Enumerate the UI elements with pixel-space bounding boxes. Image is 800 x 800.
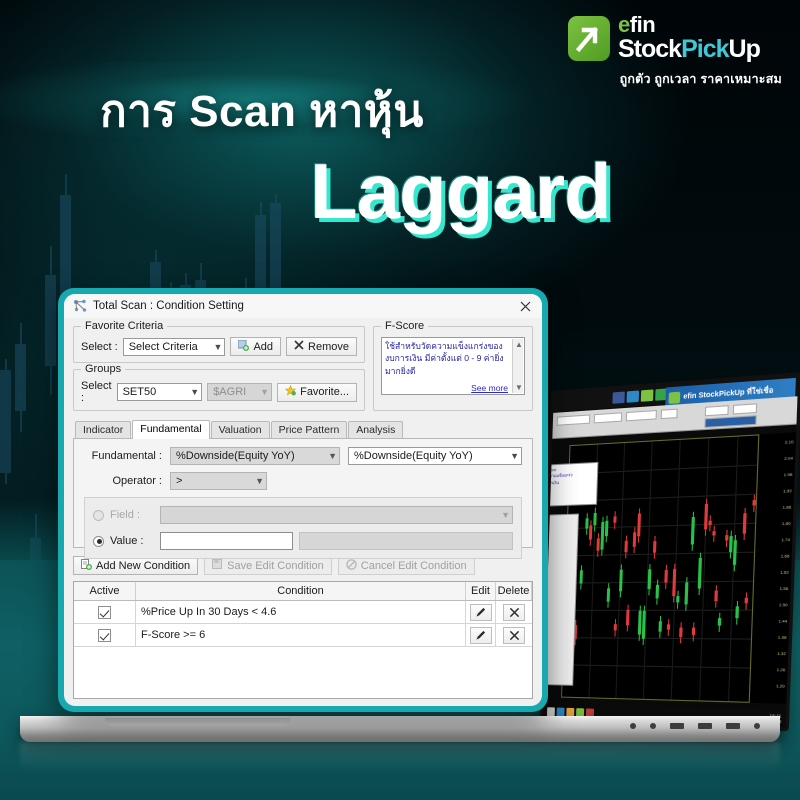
poster-stage: การ Scan หาหุ้น Laggard efin StockPickUp… xyxy=(0,0,800,800)
favorite-button[interactable]: Favorite... xyxy=(277,383,357,402)
logo-pick: Pick xyxy=(681,35,728,63)
laptop-reflection xyxy=(20,742,780,772)
fundamental-select-1[interactable]: %Downside(Equity YoY) ▼ xyxy=(170,447,340,465)
chevron-down-icon: ▼ xyxy=(506,451,519,461)
field-radio[interactable] xyxy=(93,510,104,521)
active-checkbox[interactable] xyxy=(98,629,111,642)
condition-setting-dialog-frame: Total Scan : Condition Setting Favorite … xyxy=(58,288,548,712)
pencil-icon[interactable] xyxy=(470,604,492,621)
fscore-description-area[interactable]: ใช้สำหรับวัดความแข็งแกร่งของงบการเงิน มี… xyxy=(381,337,525,395)
cancel-circle-icon xyxy=(346,559,357,573)
column-header-edit[interactable]: Edit xyxy=(466,582,496,600)
column-header-condition[interactable]: Condition xyxy=(136,582,466,600)
active-checkbox[interactable] xyxy=(98,606,111,619)
operator-select[interactable]: > ▼ xyxy=(170,472,267,490)
condition-setting-dialog: Total Scan : Condition Setting Favorite … xyxy=(64,294,542,706)
groups-select[interactable]: SET50 ▼ xyxy=(117,383,203,401)
groups-legend: Groups xyxy=(81,363,125,375)
fscore-description: ใช้สำหรับวัดความแข็งแกร่งของงบการเงิน มี… xyxy=(385,340,510,377)
criteria-tabs: IndicatorFundamentalValuationPrice Patte… xyxy=(73,420,533,439)
laptop-notch xyxy=(105,718,290,726)
tab-valuation[interactable]: Valuation xyxy=(211,421,270,439)
field-value-subpanel: Field : ▼ Value : xyxy=(84,497,522,559)
efin-logo: efin StockPickUp ถูกตัว ถูกเวลา ราคาเหมา… xyxy=(568,14,782,84)
groups-select-label: Select : xyxy=(81,380,112,404)
chevron-down-icon: ▼ xyxy=(251,476,264,486)
chevron-down-icon: ▼ xyxy=(186,387,199,397)
star-icon xyxy=(285,385,296,399)
fundamental-value-1: %Downside(Equity YoY) xyxy=(176,450,295,462)
sector-value: $AGRI xyxy=(213,386,246,398)
remove-criteria-button[interactable]: Remove xyxy=(286,337,357,356)
groups-group: Groups Select : SET50 ▼ $AGRI ▼ xyxy=(73,369,365,411)
save-edit-condition-label: Save Edit Condition xyxy=(227,560,324,572)
poster-main-title: Laggard xyxy=(310,152,611,230)
favorite-select-label: Select : xyxy=(81,341,118,353)
tab-fundamental[interactable]: Fundamental xyxy=(132,420,209,439)
fscore-group: F-Score ใช้สำหรับวัดความแข็งแกร่งของงบกา… xyxy=(373,326,533,411)
value-label: Value : xyxy=(110,535,152,547)
dialog-title: Total Scan : Condition Setting xyxy=(93,300,516,312)
add-criteria-label: Add xyxy=(253,341,273,353)
conditions-table-header: ActiveConditionEditDelete xyxy=(74,582,532,601)
field-label: Field : xyxy=(110,509,152,521)
operator-label: Operator : xyxy=(84,475,162,487)
active-checkbox-cell[interactable] xyxy=(74,601,136,623)
x-icon[interactable] xyxy=(503,604,525,621)
favorite-label: Favorite... xyxy=(300,386,349,398)
fundamental-panel: Fundamental : %Downside(Equity YoY) ▼ %D… xyxy=(73,438,533,548)
favorite-criteria-legend: Favorite Criteria xyxy=(81,320,167,332)
see-more-link[interactable]: See more xyxy=(471,383,508,393)
logo-fin: fin xyxy=(630,12,655,37)
active-checkbox-cell[interactable] xyxy=(74,624,136,646)
conditions-table-body: %Price Up In 30 Days < 4.6F-Score >= 6 xyxy=(74,601,532,647)
condition-cell: F-Score >= 6 xyxy=(136,624,466,646)
favorite-criteria-group: Favorite Criteria Select : Select Criter… xyxy=(73,326,365,363)
laptop-ports xyxy=(630,723,760,729)
favorite-criteria-value: Select Criteria xyxy=(129,341,198,353)
table-row[interactable]: %Price Up In 30 Days < 4.6 xyxy=(74,601,532,624)
operator-value: > xyxy=(176,475,182,487)
chevron-down-icon: ▼ xyxy=(256,387,269,397)
terminal-tooltip-popup: F-Scoreวัดความแข็งแกร่งงบการเงิน xyxy=(540,462,598,507)
pencil-icon[interactable] xyxy=(470,627,492,644)
shield-arrow-icon xyxy=(568,16,610,61)
logo-e: e xyxy=(618,12,630,37)
edit-cell[interactable] xyxy=(466,624,496,646)
logo-tagline: ถูกตัว ถูกเวลา ราคาเหมาะสม xyxy=(568,69,782,89)
field-select: ▼ xyxy=(160,506,513,524)
chevron-down-icon[interactable]: ▼ xyxy=(515,383,523,392)
column-header-delete[interactable]: Delete xyxy=(496,582,532,600)
logo-stock: Stock xyxy=(618,35,681,63)
delete-cell[interactable] xyxy=(496,624,532,646)
network-nodes-icon xyxy=(73,299,87,313)
value-input[interactable] xyxy=(160,532,293,550)
table-row[interactable]: F-Score >= 6 xyxy=(74,624,532,647)
chevron-down-icon: ▼ xyxy=(210,342,223,352)
dialog-title-bar: Total Scan : Condition Setting xyxy=(64,294,542,318)
logo-up: Up xyxy=(729,35,760,63)
fundamental-row: Fundamental : %Downside(Equity YoY) ▼ %D… xyxy=(84,447,522,465)
sector-select: $AGRI ▼ xyxy=(207,383,272,401)
dialog-body: Favorite Criteria Select : Select Criter… xyxy=(64,318,542,706)
save-icon xyxy=(212,559,223,573)
condition-cell: %Price Up In 30 Days < 4.6 xyxy=(136,601,466,623)
delete-cell[interactable] xyxy=(496,601,532,623)
value-input-secondary xyxy=(299,532,513,550)
criteria-and-fscore-row: Favorite Criteria Select : Select Criter… xyxy=(73,322,533,411)
fundamental-label: Fundamental : xyxy=(84,450,162,462)
favorite-criteria-select[interactable]: Select Criteria ▼ xyxy=(123,338,226,356)
value-radio[interactable] xyxy=(93,536,104,547)
column-header-active[interactable]: Active xyxy=(74,582,136,600)
remove-criteria-label: Remove xyxy=(308,341,349,353)
chevron-down-icon: ▼ xyxy=(497,510,510,520)
logo-stockpickup-word: StockPickUp xyxy=(618,37,760,62)
fundamental-select-2[interactable]: %Downside(Equity YoY) ▼ xyxy=(348,447,522,465)
cancel-edit-condition-label: Cancel Edit Condition xyxy=(361,560,467,572)
poster-thai-title: การ Scan หาหุ้น xyxy=(100,76,424,146)
add-new-condition-label: Add New Condition xyxy=(96,560,190,572)
chevron-down-icon: ▼ xyxy=(324,451,337,461)
add-green-icon xyxy=(238,340,249,354)
fundamental-value-2: %Downside(Equity YoY) xyxy=(354,450,473,462)
operator-row: Operator : > ▼ xyxy=(84,472,522,490)
close-icon[interactable] xyxy=(516,297,534,315)
add-criteria-button[interactable]: Add xyxy=(230,337,281,356)
tab-analysis[interactable]: Analysis xyxy=(348,421,403,439)
add-row-icon xyxy=(81,559,92,573)
logo-efin-word: efin xyxy=(618,14,760,36)
conditions-table: ActiveConditionEditDelete %Price Up In 3… xyxy=(73,581,533,699)
groups-value: SET50 xyxy=(123,386,157,398)
x-icon[interactable] xyxy=(503,627,525,644)
fscore-scrollbar[interactable]: ▲ ▼ xyxy=(512,339,523,393)
terminal-brand-icon xyxy=(668,391,680,403)
tab-indicator[interactable]: Indicator xyxy=(75,421,131,439)
fscore-legend: F-Score xyxy=(381,320,428,332)
tab-price-pattern[interactable]: Price Pattern xyxy=(271,421,348,439)
x-icon xyxy=(294,340,304,353)
edit-cell[interactable] xyxy=(466,601,496,623)
laptop-screen: efin StockPickUp ที่ใช่เชื่อ 2.102.041.9… xyxy=(540,372,800,731)
chevron-up-icon[interactable]: ▲ xyxy=(515,340,523,349)
